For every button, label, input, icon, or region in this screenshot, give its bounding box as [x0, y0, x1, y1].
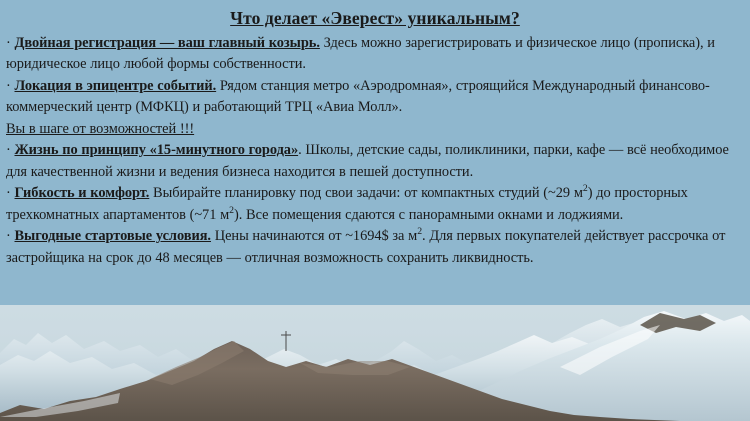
bullet-extra-line-2: Вы в шаге от возможностей !!! — [6, 121, 194, 137]
bullet-marker: · — [6, 228, 11, 244]
bullet-paragraph-2: · Локация в эпицентре событий. Рядом ста… — [6, 76, 743, 141]
bullet-marker: · — [6, 35, 11, 51]
bullet-paragraph-5: · Выгодные стартовые условия. Цены начин… — [6, 226, 743, 269]
bullet-lead-4: Гибкость и комфорт. — [15, 185, 150, 201]
bullet-paragraph-4: · Гибкость и комфорт. Выбирайте планиров… — [6, 183, 743, 226]
bullet-lead-3: Жизнь по принципу «15-минутного города» — [15, 142, 299, 158]
summit-antenna-icon — [0, 305, 750, 421]
bullet-body-5a: Цены начинаются от ~1694$ за м — [211, 228, 417, 244]
bullet-body-4a: Выбирайте планировку под свои задачи: от… — [149, 185, 583, 201]
bullet-lead-5: Выгодные стартовые условия. — [15, 228, 211, 244]
slide-canvas: Что делает «Эверест» уникальным? · Двойн… — [0, 0, 750, 421]
bullet-paragraph-3: · Жизнь по принципу «15-минутного города… — [6, 140, 743, 183]
bullet-body-4c: ). Все помещения сдаются с панорамными о… — [234, 207, 623, 223]
slide-content: Что делает «Эверест» уникальным? · Двойн… — [0, 0, 750, 269]
bullet-marker: · — [6, 142, 11, 158]
bullet-marker: · — [6, 185, 11, 201]
bullet-paragraph-1: · Двойная регистрация — ваш главный козы… — [6, 33, 743, 76]
mountain-photo — [0, 305, 750, 421]
bullet-lead-1: Двойная регистрация — ваш главный козырь… — [15, 35, 320, 51]
bullet-marker: · — [6, 78, 11, 94]
bullet-lead-2: Локация в эпицентре событий. — [15, 78, 217, 94]
page-title: Что делает «Эверест» уникальным? — [0, 8, 750, 30]
